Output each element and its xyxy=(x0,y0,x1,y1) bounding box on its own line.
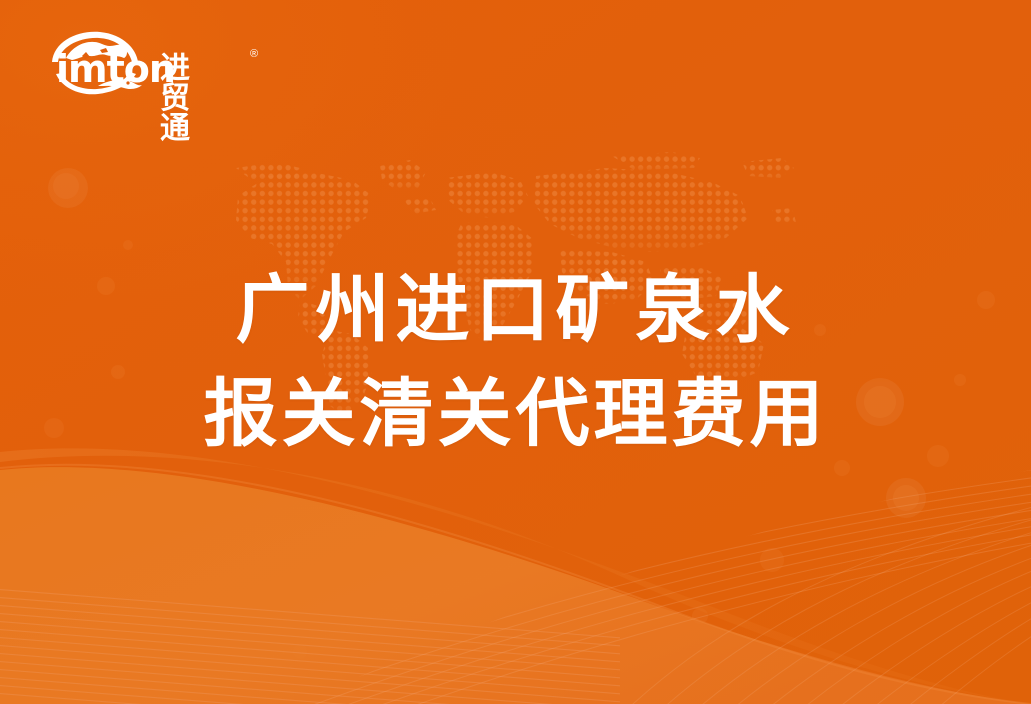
cover-banner: imton 进贸通 ® 广州进口矿泉水 报关清关代理费用 xyxy=(0,0,1031,704)
logo-chinese-mark: 进贸通 xyxy=(160,54,218,144)
imton-logo[interactable]: imton 进贸通 ® xyxy=(38,28,218,100)
title-line-1: 广州进口矿泉水 xyxy=(0,258,1031,362)
title-block: 广州进口矿泉水 报关清关代理费用 xyxy=(0,258,1031,466)
logo-wordmark: imton xyxy=(56,50,175,88)
registered-trademark-icon: ® xyxy=(250,48,258,60)
title-line-2: 报关清关代理费用 xyxy=(0,362,1031,466)
